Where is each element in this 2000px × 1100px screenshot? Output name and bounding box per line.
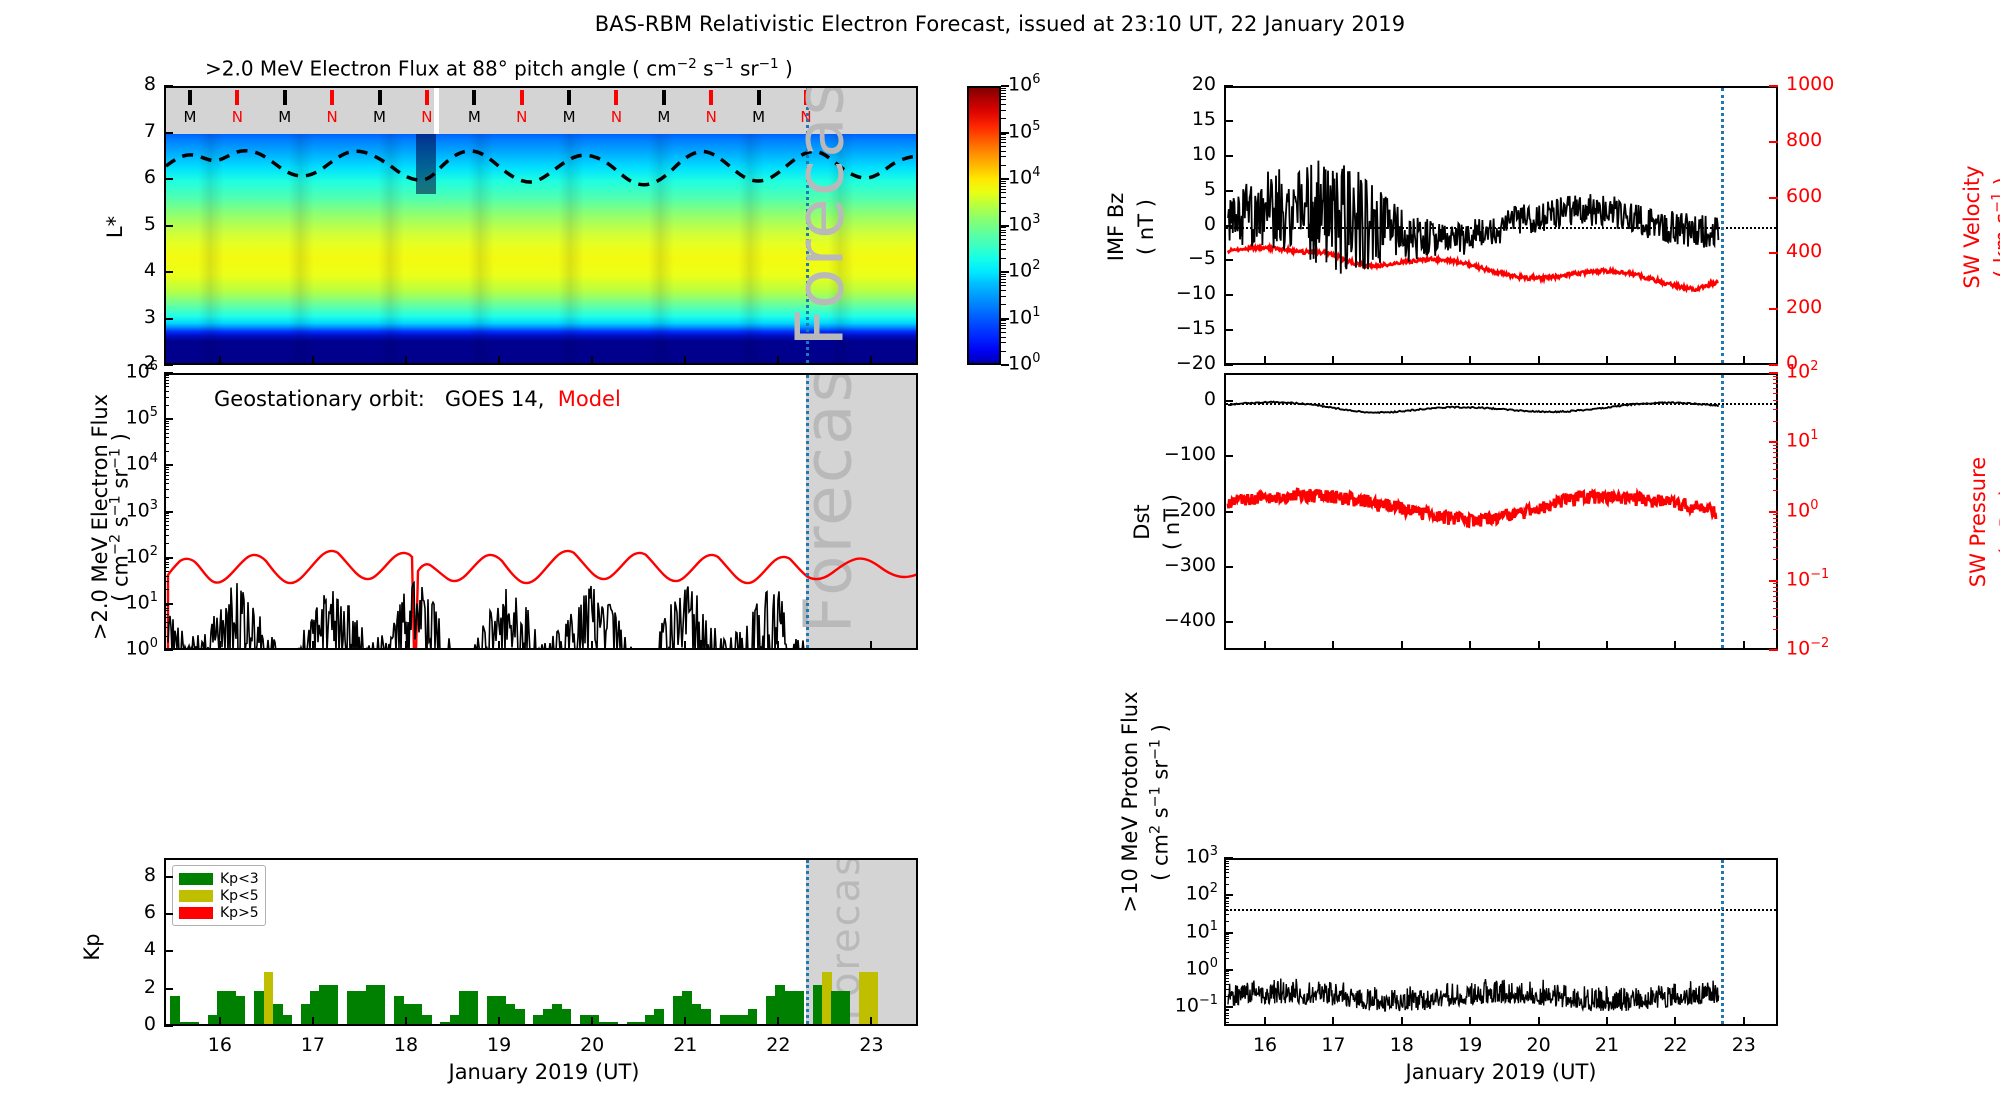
proton-minor-tick: [1224, 943, 1229, 944]
sw-velocity-ylabel-line2: ( km s−1 ): [1990, 118, 2000, 338]
proton-minor-tick: [1224, 1022, 1229, 1023]
kp-ytick-mark: [164, 876, 173, 878]
kp-legend-label-2: Kp>5: [220, 905, 259, 921]
colorbar-minor-tick: [1001, 197, 1006, 198]
colorbar[interactable]: [967, 86, 1001, 365]
kp-ytick: 2: [112, 976, 156, 998]
proton-minor-tick: [1224, 984, 1229, 985]
sw-pressure-minor-tick: [1773, 376, 1778, 377]
kp-bar: [282, 1015, 292, 1026]
kp-legend-swatch-yellow: [179, 890, 213, 902]
kp-bar: [748, 1009, 758, 1026]
sw-pressure-minor-tick: [1773, 400, 1778, 401]
proton-minor-tick: [1224, 1009, 1229, 1010]
figure-title: BAS-RBM Relativistic Electron Forecast, …: [0, 12, 2000, 36]
sw-velocity-ytick: 1000: [1786, 73, 1856, 95]
colorbar-minor-tick: [1001, 137, 1006, 138]
geo-flux-minor-tick: [164, 529, 169, 530]
kp-bar: [552, 1004, 562, 1026]
kp-legend-swatch-green: [179, 873, 213, 885]
imf-xtick-mark: [1538, 356, 1540, 365]
sw-pressure-ytick-mark: [1769, 649, 1778, 651]
sw-velocity-ytick: 800: [1786, 129, 1856, 151]
xtick-mark: [1401, 1017, 1403, 1026]
geo-flux-minor-tick: [164, 443, 169, 444]
kp-bar: [357, 991, 367, 1026]
proton-minor-tick: [1224, 947, 1229, 948]
imf-ytick-mark: [1224, 225, 1233, 227]
imf-ytick-mark: [1224, 190, 1233, 192]
proton-minor-tick: [1224, 1013, 1229, 1014]
proton-minor-tick: [1224, 914, 1229, 915]
proton-ytick: 10−1: [1146, 993, 1218, 1016]
xtick-mark: [1538, 1017, 1540, 1026]
sw-pressure-minor-tick: [1773, 388, 1778, 389]
sw-pressure-minor-tick: [1773, 522, 1778, 523]
geo-flux-minor-tick: [164, 608, 169, 609]
sw-pressure-ytick-mark: [1769, 441, 1778, 443]
geo-flux-minor-tick: [164, 421, 169, 422]
geo-flux-minor-tick: [164, 467, 169, 468]
sw-pressure-minor-tick: [1773, 469, 1778, 470]
geo-flux-minor-tick: [164, 589, 169, 590]
satellite-tick-n: [614, 90, 618, 105]
swv-ylab-a: ( km s: [1991, 213, 2000, 278]
flux-map-ytick-mark: [164, 364, 173, 366]
xtick-mark: [777, 1017, 779, 1026]
prot-ylab-c: sr: [1149, 760, 1173, 786]
kp-bar: [254, 991, 264, 1026]
geo-flux-minor-tick: [164, 636, 169, 637]
flux-map-title-d: sr: [734, 57, 759, 81]
imf-ylabel-line1: IMF Bz: [1104, 127, 1128, 327]
colorbar-minor-tick: [1001, 325, 1006, 326]
colorbar-minor-tick: [1001, 151, 1006, 152]
xtick-label: 18: [1378, 1034, 1426, 1056]
geo-flux-minor-tick: [164, 564, 169, 565]
prot-ylab-e3: −1: [1148, 739, 1164, 760]
geo-flux-minor-tick: [164, 437, 169, 438]
sw-pressure-minor-tick: [1773, 616, 1778, 617]
colorbar-tick-label: 105: [1008, 119, 1078, 142]
imf-ytick-mark: [1224, 155, 1233, 157]
kp-bar: [794, 991, 804, 1026]
xtick-mark: [1264, 1017, 1266, 1026]
imf-xtick-mark: [1401, 356, 1403, 365]
kp-bar: [561, 1009, 571, 1026]
kp-bar: [533, 1015, 543, 1026]
satellite-label-m: M: [370, 108, 390, 126]
flux-map-xtick-mark: [777, 356, 779, 365]
sw-velocity-ytick-mark: [1769, 141, 1778, 143]
proton-minor-tick: [1224, 866, 1229, 867]
colorbar-minor-tick: [1001, 320, 1006, 321]
geo-flux-minor-tick: [164, 622, 169, 623]
kp-ylabel: Kp: [80, 917, 104, 977]
geo-flux-minor-tick: [164, 605, 169, 606]
dst-ytick-mark: [1224, 511, 1233, 513]
flux-map-xtick-mark: [870, 356, 872, 365]
sw-pressure-minor-tick: [1773, 559, 1778, 560]
colorbar-minor-tick: [1001, 156, 1006, 157]
colorbar-tick-label: 101: [1008, 305, 1078, 328]
xtick-mark: [684, 1017, 686, 1026]
geo-flux-minor-tick: [164, 391, 169, 392]
geo-flux-ylabel-line2: ( cm−2 s−1 sr−1 ): [108, 363, 133, 673]
sw-pressure-minor-tick: [1773, 514, 1778, 515]
xtick-mark: [870, 1017, 872, 1026]
geo-flux-minor-tick: [164, 627, 169, 628]
colorbar-minor-tick: [1001, 110, 1006, 111]
sw-pressure-minor-tick: [1773, 452, 1778, 453]
satellite-tick-m: [472, 90, 476, 105]
xtick-mark: [498, 1017, 500, 1026]
forecast-start-line-2: [806, 375, 809, 648]
colorbar-minor-tick: [1001, 285, 1006, 286]
kp-bar: [226, 991, 236, 1026]
sw-pressure-minor-tick: [1773, 591, 1778, 592]
proton-minor-tick: [1224, 863, 1229, 864]
geo-flux-xtick-mark: [405, 641, 407, 650]
kp-bar: [654, 1009, 664, 1026]
flux-map-title-e1: −2: [677, 56, 697, 72]
proton-minor-tick: [1224, 872, 1229, 873]
sw-pressure-ylabel-line2: ( nPa ): [1996, 412, 2000, 632]
dst-xtick-mark: [1264, 641, 1266, 650]
colorbar-minor-tick: [1001, 227, 1006, 228]
kp-bar: [841, 991, 851, 1026]
flux-map-title-c: s: [697, 57, 714, 81]
sw-velocity-ytick-mark: [1769, 308, 1778, 310]
proton-minor-tick: [1224, 940, 1229, 941]
geo-flux-minor-tick: [164, 513, 169, 514]
proton-minor-tick: [1224, 996, 1229, 997]
sw-pressure-minor-tick: [1773, 601, 1778, 602]
sw-velocity-ytick-mark: [1769, 252, 1778, 254]
dst-ytick-mark: [1224, 566, 1233, 568]
geo-flux-minor-tick: [164, 475, 169, 476]
satellite-label-n: N: [322, 108, 342, 126]
colorbar-minor-tick: [1001, 211, 1006, 212]
kp-bar: [170, 996, 180, 1026]
forecast-start-line-3: [806, 860, 809, 1024]
xtick-label: 17: [1309, 1034, 1357, 1056]
dst-ytick-mark: [1224, 621, 1233, 623]
sw-pressure-minor-tick: [1773, 379, 1778, 380]
kp-legend-label-1: Kp<5: [220, 888, 259, 904]
colorbar-minor-tick: [1001, 323, 1006, 324]
kp-bar: [831, 991, 841, 1026]
dst-ytick-mark: [1224, 455, 1233, 457]
geo-ylab-e2: −1: [108, 495, 124, 516]
xtick-mark: [1674, 1017, 1676, 1026]
geo-flux-xtick-mark: [777, 641, 779, 650]
sw-pressure-ytick: 102: [1786, 359, 1866, 382]
xtick-label: 16: [196, 1034, 244, 1056]
kp-bar: [440, 1022, 450, 1026]
colorbar-minor-tick: [1001, 274, 1006, 275]
flux-map-title-b: pitch angle ( cm: [508, 57, 677, 81]
imf-bz-curve: [1226, 88, 1778, 365]
prot-ylab-a: ( cm: [1149, 834, 1173, 881]
kp-bar: [329, 985, 339, 1026]
prot-ylab-e2: −1: [1148, 786, 1164, 807]
forecast-start-line-6: [1721, 860, 1724, 1024]
proton-minor-tick: [1224, 938, 1229, 939]
dst-xtick-mark: [1332, 641, 1334, 650]
panel-imf-bz-sw-velocity[interactable]: [1224, 86, 1778, 365]
kp-bar: [450, 1015, 460, 1026]
xtick-label: 21: [1583, 1034, 1631, 1056]
sw-pressure-ytick: 101: [1786, 428, 1866, 451]
prot-ylab-e1: 2: [1148, 825, 1164, 834]
sw-pressure-minor-tick: [1773, 532, 1778, 533]
flux-map-xtick-mark: [684, 356, 686, 365]
colorbar-minor-tick: [1001, 282, 1006, 283]
geo-flux-minor-tick: [164, 429, 169, 430]
kp-ytick-mark: [164, 950, 173, 952]
satellite-label-n: N: [417, 108, 437, 126]
colorbar-minor-tick: [1001, 239, 1006, 240]
xtick-label: 23: [847, 1034, 895, 1056]
kp-ytick: 6: [112, 901, 156, 923]
flux-map-ytick-mark: [164, 132, 173, 134]
colorbar-minor-tick: [1001, 189, 1006, 190]
kp-legend-row: Kp>5: [179, 904, 259, 921]
dst-xtick-mark: [1401, 641, 1403, 650]
geo-flux-minor-tick: [164, 479, 169, 480]
colorbar-minor-tick: [1001, 296, 1006, 297]
geo-ylab-d: ): [109, 433, 133, 448]
sw-pressure-minor-tick: [1773, 457, 1778, 458]
satellite-tick-m: [567, 90, 571, 105]
geo-flux-minor-tick: [164, 423, 169, 424]
kp-bar: [422, 1015, 432, 1026]
sw-pressure-minor-tick: [1773, 393, 1778, 394]
flux-map-ytick-mark: [164, 271, 173, 273]
proton-minor-tick: [1224, 1015, 1229, 1016]
kp-ytick: 0: [112, 1013, 156, 1035]
flux-map-title-e: ): [779, 57, 793, 81]
satellite-label-m: M: [464, 108, 484, 126]
panel-proton-flux[interactable]: [1224, 858, 1778, 1026]
geo-flux-xtick-mark: [870, 641, 872, 650]
colorbar-minor-tick: [1001, 186, 1006, 187]
proton-ytick: 100: [1146, 956, 1218, 979]
colorbar-minor-tick: [1001, 279, 1006, 280]
flux-map-ytick: 3: [116, 306, 156, 328]
colorbar-minor-tick: [1001, 232, 1006, 233]
flux-map-title-e3: −1: [759, 56, 779, 72]
proton-ylabel-line1: >10 MeV Proton Flux: [1118, 647, 1142, 957]
colorbar-minor-tick: [1001, 249, 1006, 250]
proton-minor-tick: [1224, 906, 1229, 907]
proton-minor-tick: [1224, 958, 1229, 959]
sw-velocity-ytick-mark: [1769, 197, 1778, 199]
satellite-tick-n: [709, 90, 713, 105]
colorbar-minor-tick: [1001, 351, 1006, 352]
kp-bar: [701, 1009, 711, 1026]
xtick-label: 19: [475, 1034, 523, 1056]
colorbar-minor-tick: [1001, 96, 1006, 97]
kp-bar: [375, 985, 385, 1026]
proton-minor-tick: [1224, 1010, 1229, 1011]
colorbar-minor-tick: [1001, 203, 1006, 204]
sw-pressure-minor-tick: [1773, 490, 1778, 491]
sw-pressure-minor-tick: [1773, 478, 1778, 479]
xtick-label: 21: [661, 1034, 709, 1056]
kp-bar: [366, 985, 376, 1026]
prot-ylab-b: s: [1149, 807, 1173, 825]
geo-ylab-a: ( cm: [109, 555, 133, 602]
xtick-mark: [312, 1017, 314, 1026]
geo-flux-minor-tick: [164, 497, 169, 498]
geo-flux-minor-tick: [164, 614, 169, 615]
sw-pressure-minor-tick: [1773, 596, 1778, 597]
proton-minor-tick: [1224, 910, 1229, 911]
geo-flux-minor-tick: [164, 535, 169, 536]
colorbar-minor-tick: [1001, 181, 1006, 182]
kp-bar: [236, 996, 246, 1026]
colorbar-minor-tick: [1001, 244, 1006, 245]
colorbar-tick-label: 103: [1008, 212, 1078, 235]
geo-ylab-c: sr: [109, 469, 133, 495]
kp-bar: [189, 1022, 199, 1026]
colorbar-minor-tick: [1001, 99, 1006, 100]
proton-ylabel-line2: ( cm2 s−1 sr−1 ): [1148, 648, 1173, 958]
panel-geostationary-flux[interactable]: Forecast Geostationary orbit: GOES 14, M…: [164, 373, 918, 650]
imf-xtick-mark: [1674, 356, 1676, 365]
kp-bar: [673, 996, 683, 1026]
kp-ytick: 8: [112, 864, 156, 886]
flux-map-title-a: >2.0 MeV Electron Flux at 88: [205, 57, 498, 81]
geo-flux-minor-tick: [164, 562, 169, 563]
sw-velocity-ytick: 200: [1786, 296, 1856, 318]
geo-flux-minor-tick: [164, 489, 169, 490]
panel-kp-index[interactable]: Forecast Kp<3 Kp<5 Kp>5: [164, 858, 918, 1026]
prot-ylab-d: ): [1149, 724, 1173, 739]
proton-minor-tick: [1224, 901, 1229, 902]
geo-flux-minor-tick: [164, 617, 169, 618]
proton-minor-tick: [1224, 973, 1229, 974]
satellite-tick-n: [425, 90, 429, 105]
satellite-tick-n: [235, 90, 239, 105]
sw-pressure-minor-tick: [1773, 629, 1778, 630]
sw-pressure-ytick-mark: [1769, 372, 1778, 374]
sw-pressure-minor-tick: [1773, 409, 1778, 410]
flux-map-title: >2.0 MeV Electron Flux at 88° pitch angl…: [205, 56, 793, 81]
geo-flux-minor-tick: [164, 518, 169, 519]
sw-pressure-ytick-mark: [1769, 580, 1778, 582]
geo-flux-minor-tick: [164, 433, 169, 434]
colorbar-minor-tick: [1001, 93, 1006, 94]
sw-pressure-minor-tick: [1773, 547, 1778, 548]
sw-pressure-minor-tick: [1773, 608, 1778, 609]
satellite-tick-m: [378, 90, 382, 105]
sw-pressure-ytick: 10−1: [1786, 567, 1866, 590]
dst-ylabel-line2: ( nT ): [1160, 422, 1184, 622]
colorbar-minor-tick: [1001, 258, 1006, 259]
flux-map-xtick-mark: [591, 356, 593, 365]
dst-xtick-mark: [1743, 641, 1745, 650]
flux-map-ytick: 6: [116, 166, 156, 188]
xtick-label: 17: [289, 1034, 337, 1056]
kp-legend-swatch-red: [179, 907, 213, 919]
colorbar-minor-tick: [1001, 342, 1006, 343]
satellite-label-m: M: [275, 108, 295, 126]
panel-electron-flux-map[interactable]: MNMNMNMNMNMNMN Forecast: [164, 86, 918, 365]
kp-bar: [264, 972, 274, 1026]
flux-map-xtick-mark: [219, 356, 221, 365]
forecast-watermark: Forecast: [782, 107, 859, 347]
geo-flux-minor-tick: [164, 451, 169, 452]
geo-flux-xtick-mark: [684, 641, 686, 650]
dst-curve: [1226, 375, 1778, 650]
kp-bar: [394, 996, 404, 1026]
sw-velocity-ytick: 600: [1786, 185, 1856, 207]
geo-ylab-e1: −2: [108, 534, 124, 555]
kp-bar: [319, 985, 329, 1026]
panel-dst-sw-pressure[interactable]: [1224, 373, 1778, 650]
xtick-mark: [1743, 1017, 1745, 1026]
sw-pressure-minor-tick: [1773, 583, 1778, 584]
kp-bar: [813, 985, 823, 1026]
satellite-tick-m: [757, 90, 761, 105]
satellite-label-m: M: [749, 108, 769, 126]
sw-pressure-ytick: 100: [1786, 498, 1866, 521]
imf-ytick-mark: [1224, 294, 1233, 296]
colorbar-tick-mark: [1001, 364, 1009, 366]
imf-ytick-mark: [1224, 329, 1233, 331]
proton-minor-tick: [1224, 975, 1229, 976]
proton-minor-tick: [1224, 903, 1229, 904]
flux-map-ytick: 7: [116, 120, 156, 142]
satellite-label-n: N: [227, 108, 247, 126]
kp-bar: [645, 1015, 655, 1026]
satellite-tick-n: [520, 90, 524, 105]
figure-canvas: BAS-RBM Relativistic Electron Forecast, …: [0, 0, 2000, 1100]
kp-bar: [636, 1022, 646, 1026]
colorbar-minor-tick: [1001, 230, 1006, 231]
colorbar-minor-tick: [1001, 165, 1006, 166]
flux-map-ylabel: L*: [103, 197, 127, 257]
satellite-tick-m: [283, 90, 287, 105]
kp-ytick-mark: [164, 913, 173, 915]
proton-minor-tick: [1224, 978, 1229, 979]
satellite-label-n: N: [606, 108, 626, 126]
sw-velocity-ytick-mark: [1769, 85, 1778, 87]
kp-bar: [506, 1004, 516, 1026]
kp-bar-series: [166, 860, 916, 1024]
satellite-tick-n: [330, 90, 334, 105]
colorbar-tick-label: 104: [1008, 165, 1078, 188]
geo-ylab-e3: −1: [108, 448, 124, 469]
kp-bar: [412, 1004, 422, 1026]
xtick-label: 19: [1446, 1034, 1494, 1056]
kp-bar: [692, 1004, 702, 1026]
colorbar-minor-tick: [1001, 276, 1006, 277]
kp-bar: [459, 991, 469, 1026]
sw-pressure-ytick-mark: [1769, 511, 1778, 513]
geo-flux-minor-tick: [164, 375, 169, 376]
kp-bar: [543, 1009, 553, 1026]
sw-velocity-ylabel-line1: SW Velocity: [1960, 117, 1984, 337]
imf-ylabel-line2: ( nT ): [1134, 127, 1158, 327]
forecast-start-line-5: [1721, 375, 1724, 648]
colorbar-minor-tick: [1001, 146, 1006, 147]
proton-minor-tick: [1224, 936, 1229, 937]
proton-minor-tick: [1224, 981, 1229, 982]
